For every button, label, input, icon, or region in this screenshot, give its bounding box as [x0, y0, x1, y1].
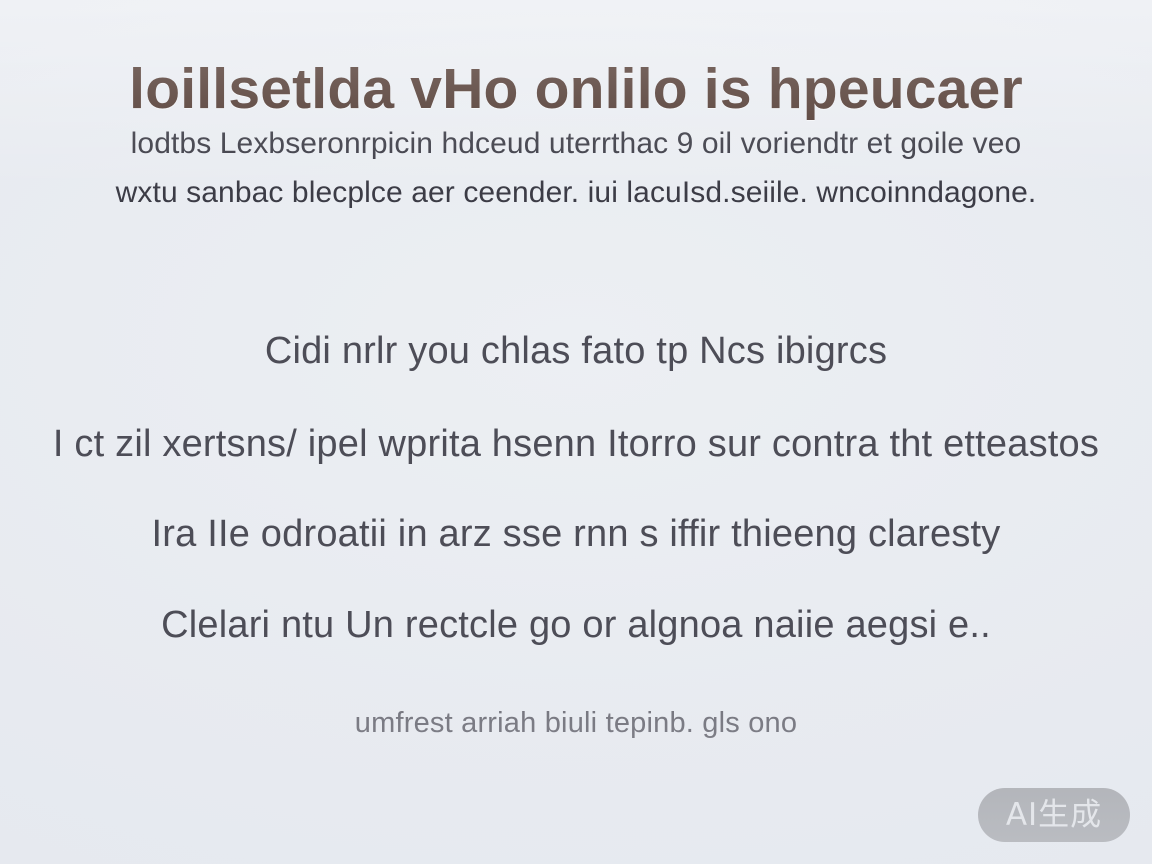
- subtitle-line-1: lodtbs Lexbseronrpicin hdceud uterrthac …: [0, 120, 1152, 169]
- subtitle-block: lodtbs Lexbseronrpicin hdceud uterrthac …: [0, 120, 1152, 217]
- body-line-4: Clelari ntu Un rectcle go or algnoa naii…: [0, 605, 1152, 647]
- ai-generated-watermark: AI生成: [978, 788, 1130, 842]
- body-line-2: I ct zil xertsns/ ipel wprita hsenn Itor…: [0, 424, 1152, 466]
- body-line-3: Ira IIe odroatii in arz sse rnn s iffir …: [0, 514, 1152, 556]
- body-line-1: Cidi nrlr you chlas fato tp Ncs ibigrcs: [0, 331, 1152, 373]
- slide-canvas: loillsetlda vHo onlilo is hpeucaer lodtb…: [0, 0, 1152, 864]
- footer-note: umfrest arriah biuli tepinb. gls ono: [0, 708, 1152, 740]
- subtitle-line-2: wxtu sanbac blecplce aer ceender. iui la…: [0, 169, 1152, 218]
- page-title: loillsetlda vHo onlilo is hpeucaer: [0, 56, 1152, 123]
- ai-generated-watermark-label: AI生成: [1006, 800, 1102, 831]
